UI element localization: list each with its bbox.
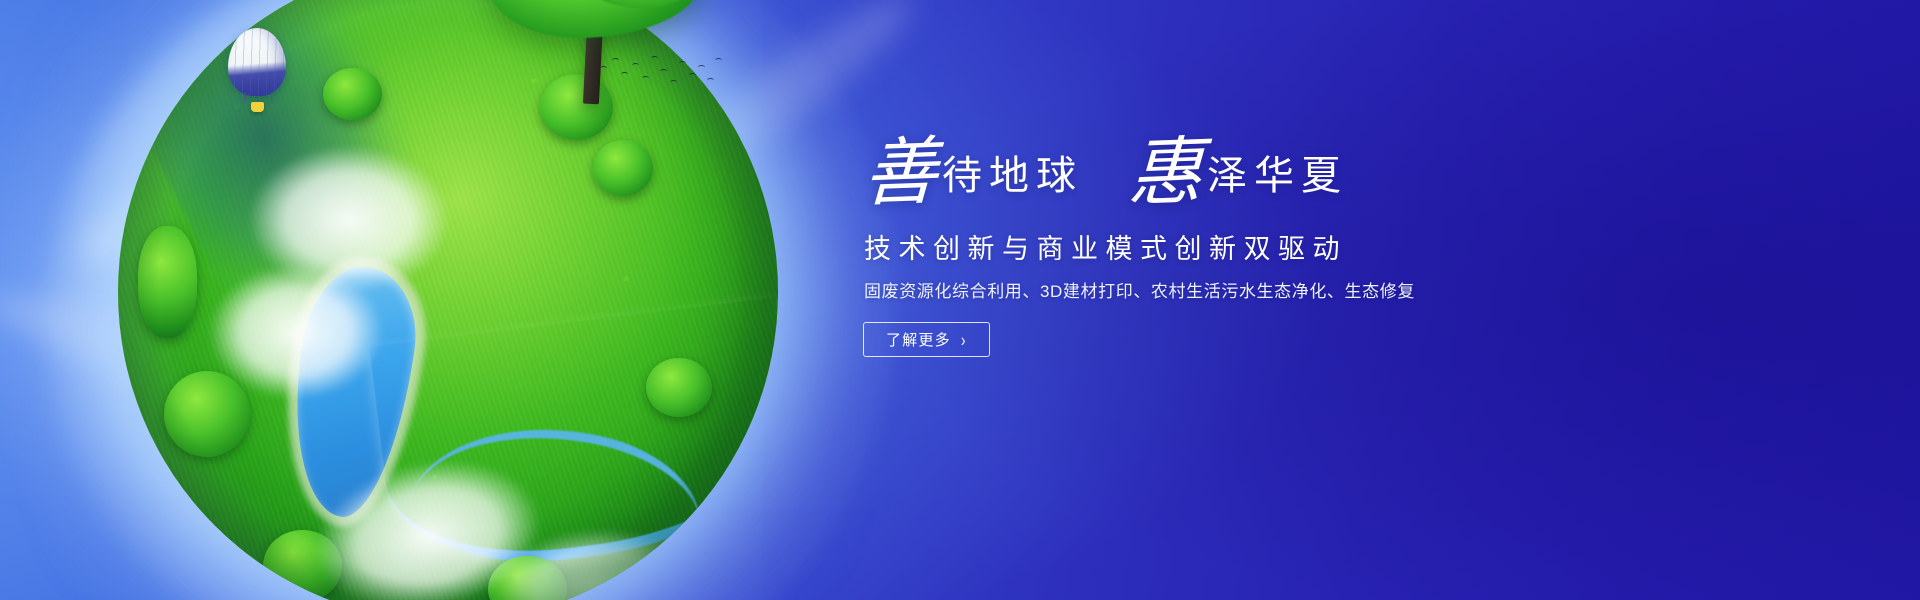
balloon-envelope [228, 28, 286, 96]
headline-brush-char: 善 [862, 135, 939, 212]
learn-more-button[interactable]: 了解更多 › [863, 322, 990, 357]
headline-rest-chars: 泽华夏 [1207, 156, 1348, 196]
hero-banner: 善 待地球 惠 泽华夏 技术创新与商业模式创新双驱动 固废资源化综合利用、3D建… [0, 0, 1920, 600]
bird-icon [651, 56, 658, 61]
learn-more-label: 了解更多 [886, 329, 951, 350]
bird-icon [660, 69, 667, 74]
headline-rest-chars: 待地球 [942, 156, 1083, 196]
hero-content: 善 待地球 惠 泽华夏 技术创新与商业模式创新双驱动 固废资源化综合利用、3D建… [862, 138, 1762, 357]
bird-icon [679, 61, 686, 66]
hot-air-balloon-icon [228, 28, 286, 120]
page-title: 善 待地球 惠 泽华夏 [862, 138, 1762, 224]
bird-icon [612, 58, 619, 63]
bird-icon [670, 80, 677, 85]
bird-icon [698, 65, 705, 70]
bird-icon [600, 66, 607, 71]
bird-flock-icon [594, 52, 724, 94]
headline-group-1: 善 待地球 [862, 138, 1083, 212]
chevron-right-icon: › [961, 330, 967, 349]
tree-canopy [488, 0, 702, 38]
bird-icon [707, 78, 714, 83]
bird-icon [621, 72, 628, 77]
page-description: 固废资源化综合利用、3D建材打印、农村生活污水生态净化、生态修复 [864, 281, 1762, 303]
page-subtitle: 技术创新与商业模式创新双驱动 [864, 234, 1762, 265]
balloon-ribs [228, 28, 286, 96]
bird-icon [642, 76, 649, 81]
bird-icon [632, 63, 639, 68]
bird-icon [715, 58, 722, 63]
bird-icon [689, 73, 696, 78]
headline-brush-char: 惠 [1127, 135, 1204, 212]
balloon-basket [251, 102, 264, 112]
headline-group-2: 惠 泽华夏 [1127, 138, 1348, 212]
